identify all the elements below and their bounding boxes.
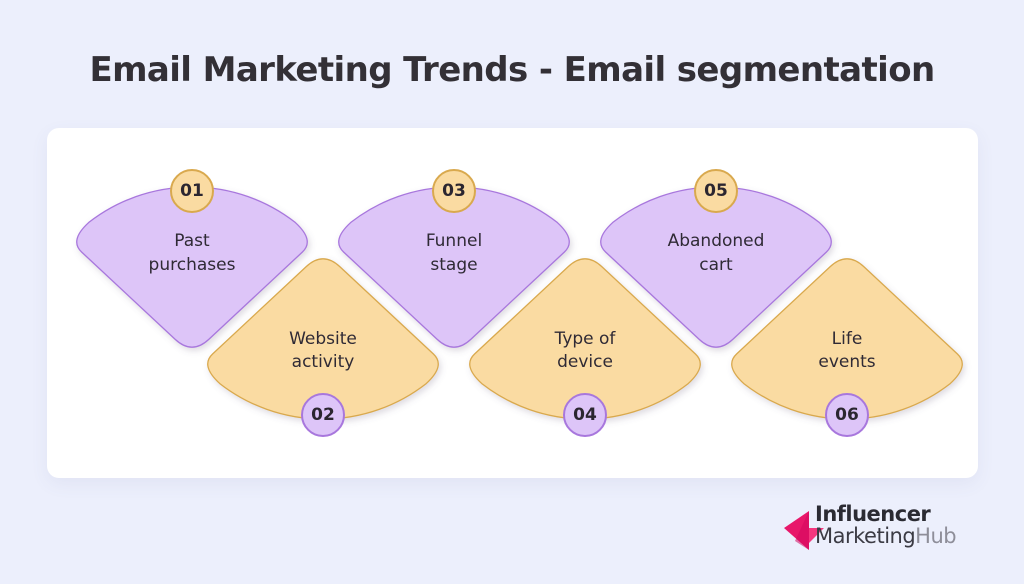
logo-line-marketinghub: MarketingHub [815, 525, 956, 549]
step-badge-03[interactable]: 03 [432, 169, 476, 213]
step-badge-01[interactable]: 01 [170, 169, 214, 213]
brand-logo: Influencer MarketingHub [783, 503, 983, 561]
logo-marketing-text: Marketing [815, 524, 915, 548]
segmentation-diagram: Past purchasesWebsite activityFunnel sta… [47, 128, 978, 478]
step-badge-06[interactable]: 06 [825, 393, 869, 437]
step-badge-04[interactable]: 04 [563, 393, 607, 437]
logo-hub-text: Hub [915, 524, 956, 548]
page-title: Email Marketing Trends - Email segmentat… [0, 50, 1024, 90]
infographic-canvas: Email Marketing Trends - Email segmentat… [0, 0, 1024, 584]
logo-wordmark: Influencer MarketingHub [815, 503, 956, 549]
step-badge-02[interactable]: 02 [301, 393, 345, 437]
logo-line-influencer: Influencer [815, 503, 956, 525]
step-badge-05[interactable]: 05 [694, 169, 738, 213]
